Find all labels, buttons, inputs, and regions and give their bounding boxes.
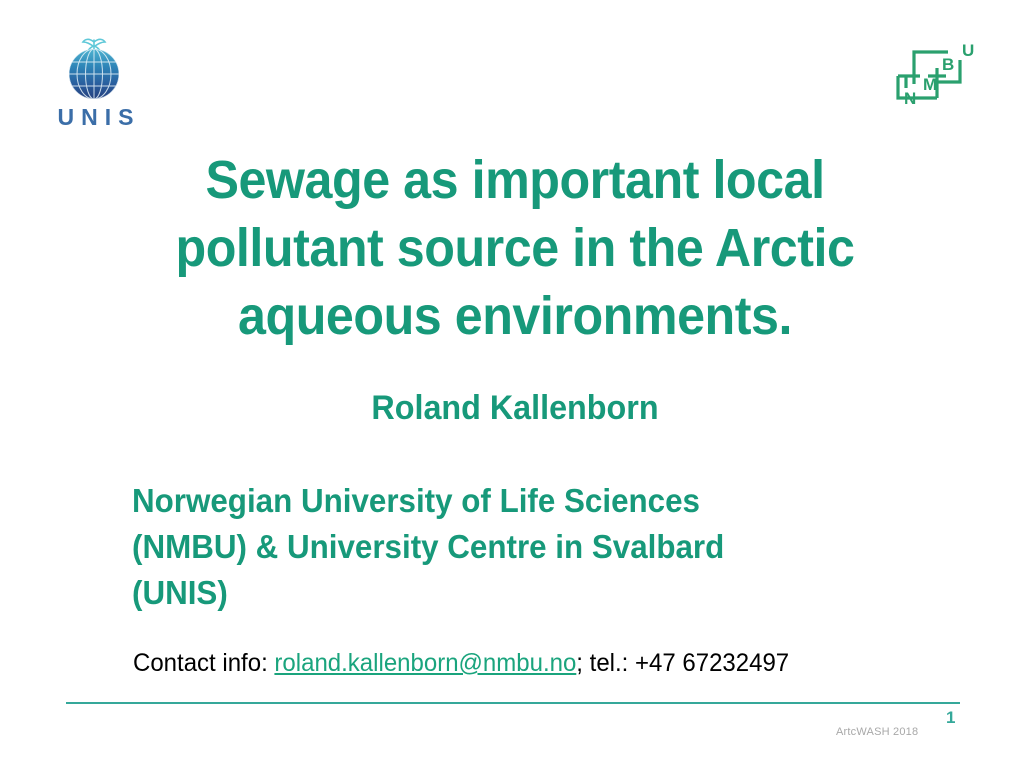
author-name: Roland Kallenborn	[130, 388, 900, 429]
footer-event-label: ArtcWASH 2018	[836, 726, 918, 738]
contact-info: Contact info: roland.kallenborn@nmbu.no;…	[133, 648, 901, 678]
contact-suffix: ; tel.: +47 67232497	[576, 649, 789, 677]
footer-divider	[66, 702, 960, 704]
contact-prefix: Contact info:	[133, 649, 274, 677]
unis-logo: UNIS	[44, 32, 154, 137]
title-line-1: Sewage as important local	[138, 146, 891, 214]
email-link[interactable]: roland.kallenborn@nmbu.no	[274, 649, 576, 677]
nmbu-monogram-icon: N M B U	[890, 30, 982, 110]
globe-icon	[62, 32, 126, 104]
affiliation-line-3: (UNIS)	[132, 570, 883, 616]
nmbu-letter-n: N	[904, 89, 916, 108]
affiliation: Norwegian University of Life Sciences (N…	[132, 478, 883, 616]
nmbu-letter-u: U	[962, 41, 974, 60]
affiliation-line-1: Norwegian University of Life Sciences	[132, 478, 883, 524]
title-line-2: pollutant source in the Arctic	[138, 214, 891, 282]
affiliation-line-2: (NMBU) & University Centre in Svalbard	[132, 524, 883, 570]
presentation-slide: UNIS N M B U	[0, 0, 1024, 768]
unis-wordmark: UNIS	[44, 106, 154, 129]
nmbu-letter-m: M	[923, 75, 937, 94]
nmbu-logo: N M B U	[890, 30, 982, 110]
slide-number: 1	[946, 708, 955, 728]
nmbu-letter-b: B	[942, 55, 954, 74]
title-line-3: aqueous environments.	[138, 282, 891, 350]
slide-title: Sewage as important local pollutant sour…	[138, 146, 891, 350]
